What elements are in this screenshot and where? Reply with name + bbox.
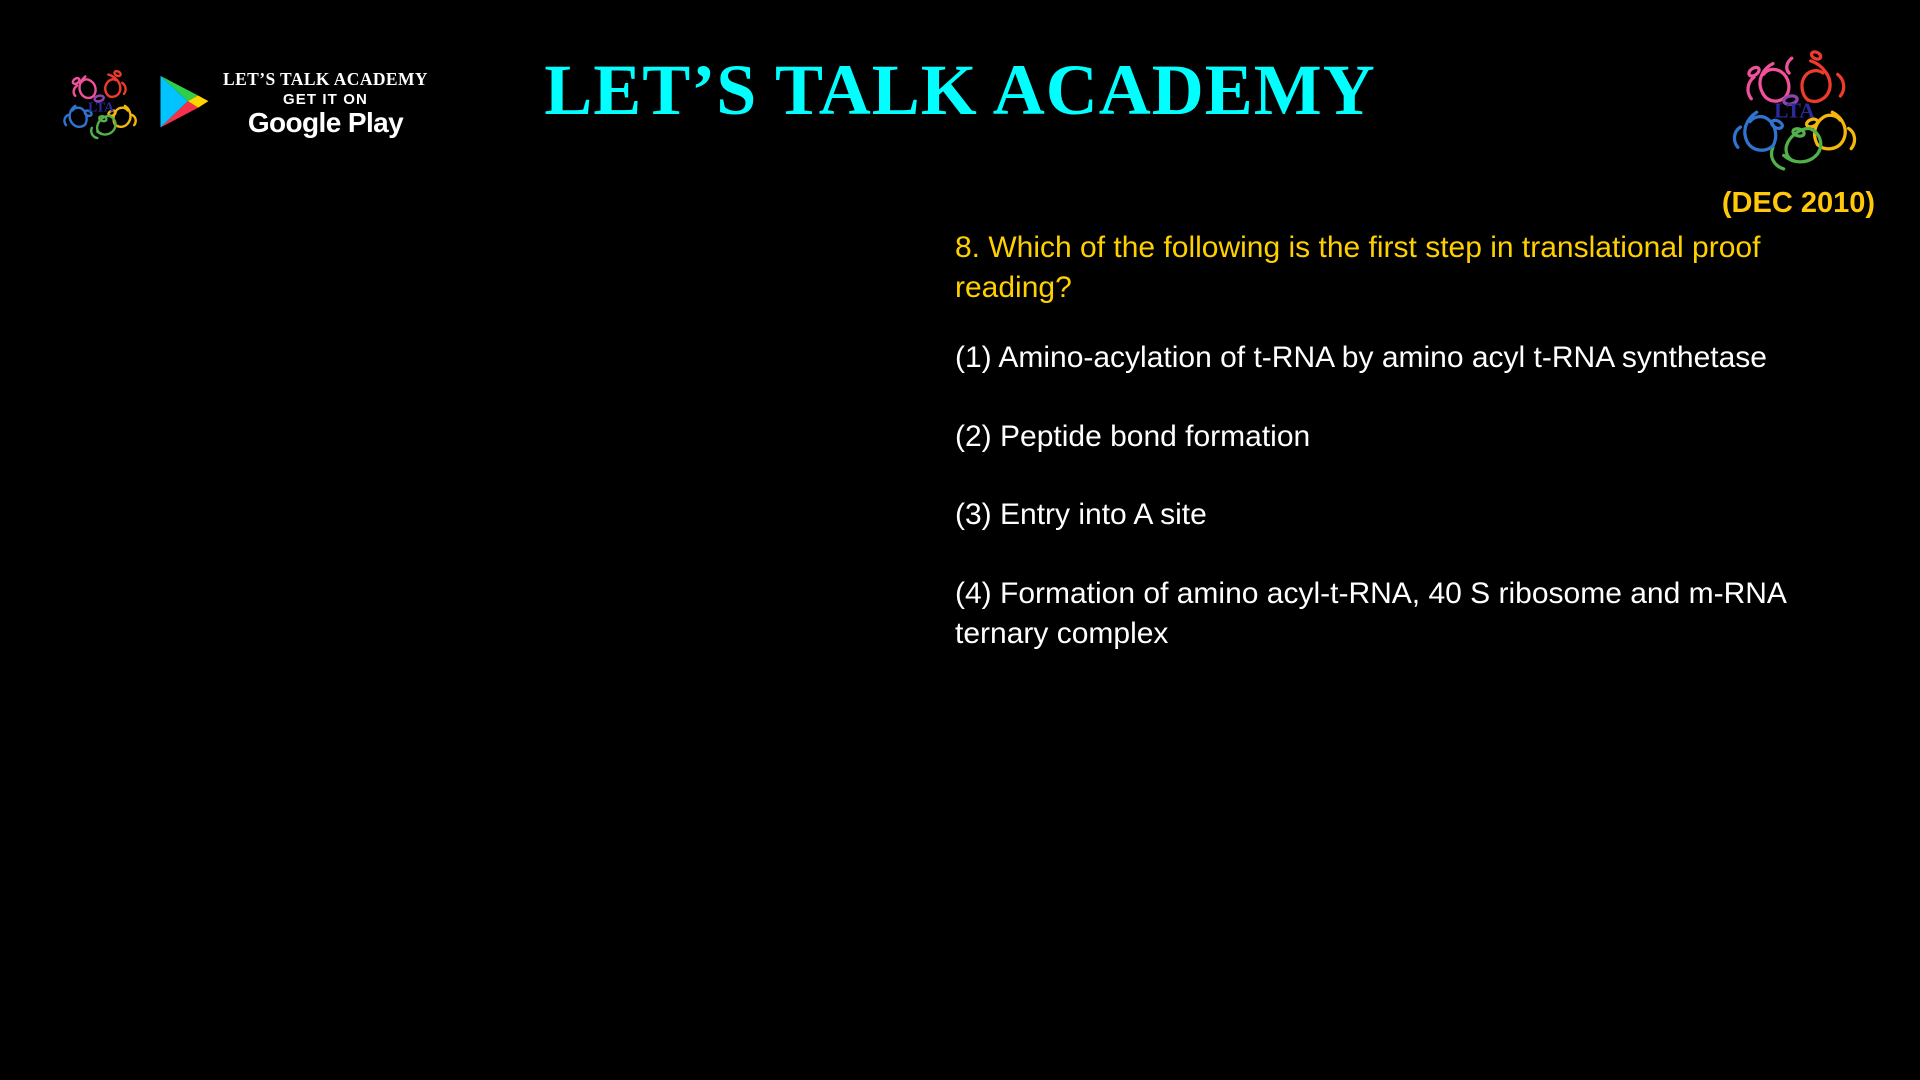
answer-options-list: (1) Amino-acylation of t-RNA by amino ac… — [955, 338, 1875, 654]
corner-emblem-center-text: LTA — [1774, 99, 1815, 123]
answer-option[interactable]: (3) Entry into A site — [955, 495, 1855, 535]
answer-option[interactable]: (2) Peptide bond formation — [955, 417, 1855, 457]
answer-option[interactable]: (4) Formation of amino acyl-t-RNA, 40 S … — [955, 574, 1855, 654]
exam-session-badge: (DEC 2010) — [955, 188, 1875, 220]
lta-corner-emblem-icon: LTA — [1727, 42, 1862, 177]
answer-option[interactable]: (1) Amino-acylation of t-RNA by amino ac… — [955, 338, 1855, 378]
page-title: LET’S TALK ACADEMY — [0, 54, 1920, 126]
slide-header: LTA LET’S TALK ACADEMY GET IT ON — [0, 0, 1920, 180]
question-panel: (DEC 2010) 8. Which of the following is … — [955, 188, 1875, 654]
slide-root: { "header": { "title": "LET\u2019S TALK … — [0, 0, 1920, 1080]
question-text: 8. Which of the following is the first s… — [955, 228, 1800, 308]
